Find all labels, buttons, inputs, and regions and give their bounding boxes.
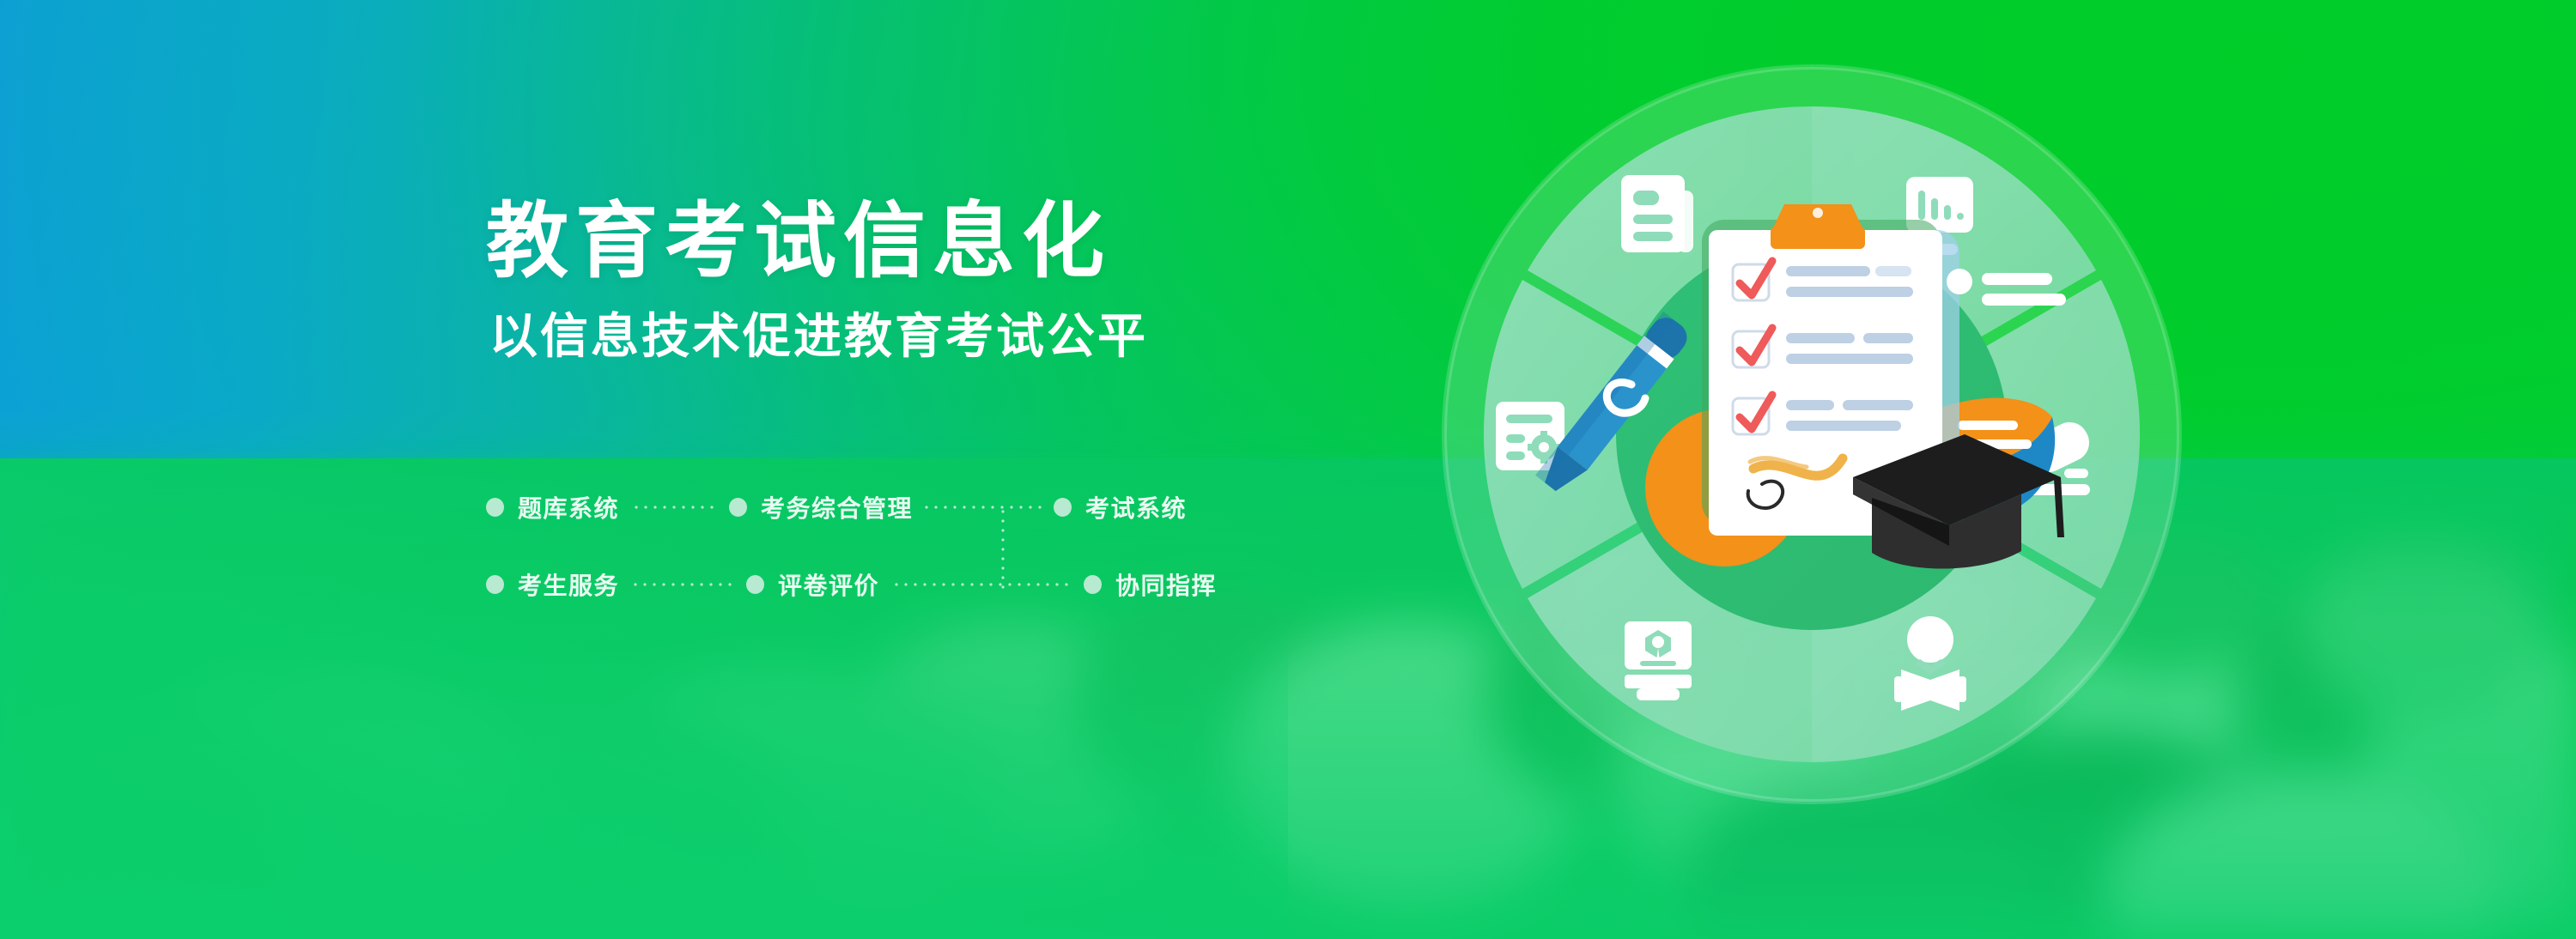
dotted-connector xyxy=(631,583,734,586)
feature-item-xietong[interactable]: 协同指挥 xyxy=(1115,567,1217,602)
page-subtitle: 以信息技术促进教育考试公平 xyxy=(489,307,1396,365)
document-stack-icon xyxy=(1621,175,1693,252)
dotted-connector xyxy=(891,583,1072,586)
bullet-dot-icon xyxy=(729,498,747,517)
bullet-dot-icon xyxy=(1054,498,1072,517)
exam-wheel-illustration xyxy=(1425,48,2198,821)
feature-row-1: 题库系统 考务综合管理 考试系统 xyxy=(486,488,1217,527)
bullet-dot-icon xyxy=(1084,575,1102,594)
education-exam-banner: 教育考试信息化 以信息技术促进教育考试公平 题库系统 考务综合管理 考试系统 考… xyxy=(0,0,2576,939)
feature-row-2: 考生服务 评卷评价 协同指挥 xyxy=(486,565,1217,604)
page-title: 教育考试信息化 xyxy=(486,196,1396,288)
feature-item-kaoshi[interactable]: 考试系统 xyxy=(1085,490,1187,524)
dotted-connector xyxy=(631,506,717,509)
feature-item-tiku[interactable]: 题库系统 xyxy=(518,490,619,524)
feature-item-kaosheng[interactable]: 考生服务 xyxy=(518,567,619,602)
bullet-dot-icon xyxy=(746,575,764,594)
feature-item-kaowu[interactable]: 考务综合管理 xyxy=(761,490,913,524)
feature-item-pingjuan[interactable]: 评卷评价 xyxy=(778,567,879,602)
feature-list: 题库系统 考务综合管理 考试系统 考生服务 评卷评价 协同指挥 xyxy=(486,488,1217,604)
headline-block: 教育考试信息化 以信息技术促进教育考试公平 xyxy=(486,196,1396,365)
dotted-connector xyxy=(925,506,1042,509)
bullet-dot-icon xyxy=(486,498,504,517)
bullet-dot-icon xyxy=(486,575,504,594)
